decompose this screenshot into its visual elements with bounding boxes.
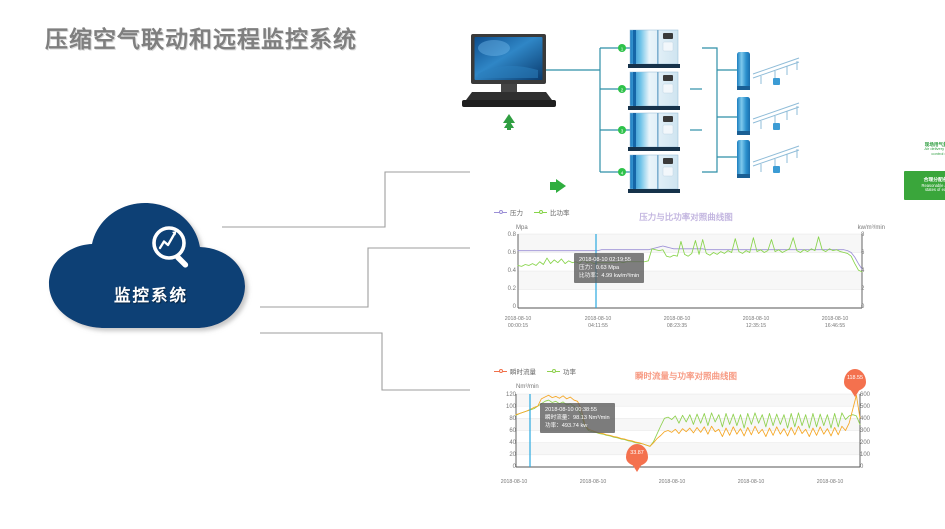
schematic-svg: 1 2 3 4 (432, 22, 937, 204)
magnifier-chart-icon (148, 222, 200, 274)
chart-pressure-vs-specific-power[interactable]: 压力 比功率 压力与比功率对照曲线图 Mpa kw/m³/min 0.8 0.6… (486, 204, 886, 339)
chart2-y2tick-1: 100 (860, 452, 878, 458)
chart2-ytick-0: 0 (494, 464, 516, 470)
chart1-ytick-4: 0.8 (500, 232, 516, 238)
svg-text:2: 2 (621, 88, 624, 93)
chart2-xtick-0: 2018-08-10 (486, 479, 542, 486)
chart1-ytick-1: 0.2 (500, 286, 516, 292)
chart-flow-vs-power[interactable]: 瞬时流量 功率 瞬时流量与功率对照曲线图 Nm³/min 120 100 80 … (486, 363, 886, 508)
chart2-xtick-3: 2018-08-10 (723, 479, 779, 486)
chart1-y2tick-0: 0 (861, 304, 873, 310)
chart1-y2tick-4: 8 (861, 232, 873, 238)
chart2-min-marker-label: 33.87 (630, 450, 644, 456)
chart2-y2tick-6: 600 (860, 392, 878, 398)
chart2-tooltip-line2: 功率：493.74 kw (545, 422, 610, 430)
chart2-ytick-5: 100 (494, 404, 516, 410)
chart1-xtick-2: 2018-08-1008:23:35 (649, 316, 705, 329)
monitoring-cloud[interactable]: 监控系统 (35, 196, 285, 346)
chart1-xtick-1: 2018-08-1004:11:55 (570, 316, 626, 329)
chart2-min-marker-pin[interactable]: 33.87 (626, 444, 648, 466)
chart2-y2tick-4: 400 (860, 416, 878, 422)
schematic-caption: 现场用气量反馈主控中心 Air delivery feedback of mai… (902, 142, 945, 156)
chart2-ytick-2: 40 (494, 440, 516, 446)
chart1-y2tick-1: 2 (861, 286, 873, 292)
air-tank-units (737, 52, 799, 178)
chart2-max-marker-pin[interactable]: 118.55 (844, 369, 866, 391)
monitor-icon (462, 34, 556, 107)
chart1-ytick-0: 0 (500, 304, 516, 310)
chart1-xtick-0: 2018-08-1000:00:15 (490, 316, 546, 329)
green-callout-box: 合理分配各空压工作状态 Reasonable assign the workin… (904, 171, 945, 200)
system-schematic: 1 2 3 4 (432, 22, 937, 204)
chart1-ytick-2: 0.4 (500, 268, 516, 274)
svg-text:3: 3 (621, 129, 624, 134)
chart2-y2tick-2: 200 (860, 440, 878, 446)
chart2-y2tick-0: 0 (860, 464, 878, 470)
chart2-ytick-4: 80 (494, 416, 516, 422)
chart1-xtick-3: 2018-08-1012:35:15 (728, 316, 784, 329)
chart2-xtick-4: 2018-08-10 (802, 479, 858, 486)
compressor-units (628, 30, 680, 193)
chart1-y2tick-3: 6 (861, 250, 873, 256)
chart1-tooltip-timestamp: 2018-08-10 02:19:55 (579, 256, 639, 264)
chart2-y2tick-3: 300 (860, 428, 878, 434)
chart2-tooltip: 2018-08-10 00:38:55 瞬时流量：98.13 Nm³/min 功… (540, 403, 615, 433)
green-callout-en-2: states of each compressors (925, 188, 945, 193)
chart2-ytick-1: 20 (494, 452, 516, 458)
chart1-ytick-3: 0.6 (500, 250, 516, 256)
chart2-tooltip-timestamp: 2018-08-10 00:38:55 (545, 406, 610, 414)
chart2-plot-area[interactable] (486, 363, 886, 508)
chart1-tooltip-line1: 压力：0.63 Mpa (579, 264, 639, 272)
svg-text:1: 1 (621, 47, 624, 52)
up-arrow-icon (503, 114, 515, 130)
chart2-ytick-6: 120 (494, 392, 516, 398)
cloud-label: 监控系统 (35, 282, 267, 306)
chart2-xtick-1: 2018-08-10 (565, 479, 621, 486)
node-markers: 1 2 3 4 (618, 44, 626, 176)
chart1-tooltip: 2018-08-10 02:19:55 压力：0.63 Mpa 比功率：4.99… (574, 253, 644, 283)
schematic-caption-en-2: control center on site (902, 152, 945, 156)
chart2-xtick-2: 2018-08-10 (644, 479, 700, 486)
right-arrow-icon (550, 179, 566, 193)
slide-canvas: 压缩空气联动和远程监控系统 监控系统 (0, 0, 945, 529)
chart2-y2tick-5: 500 (860, 404, 878, 410)
svg-text:4: 4 (621, 171, 624, 176)
chart2-tooltip-line1: 瞬时流量：98.13 Nm³/min (545, 414, 610, 422)
chart1-y2tick-2: 4 (861, 268, 873, 274)
chart1-tooltip-line2: 比功率：4.99 kw/m³/min (579, 272, 639, 280)
chart2-ytick-3: 60 (494, 428, 516, 434)
chart1-xtick-4: 2018-08-1016:46:55 (807, 316, 863, 329)
chart2-max-marker-label: 118.55 (847, 375, 863, 381)
